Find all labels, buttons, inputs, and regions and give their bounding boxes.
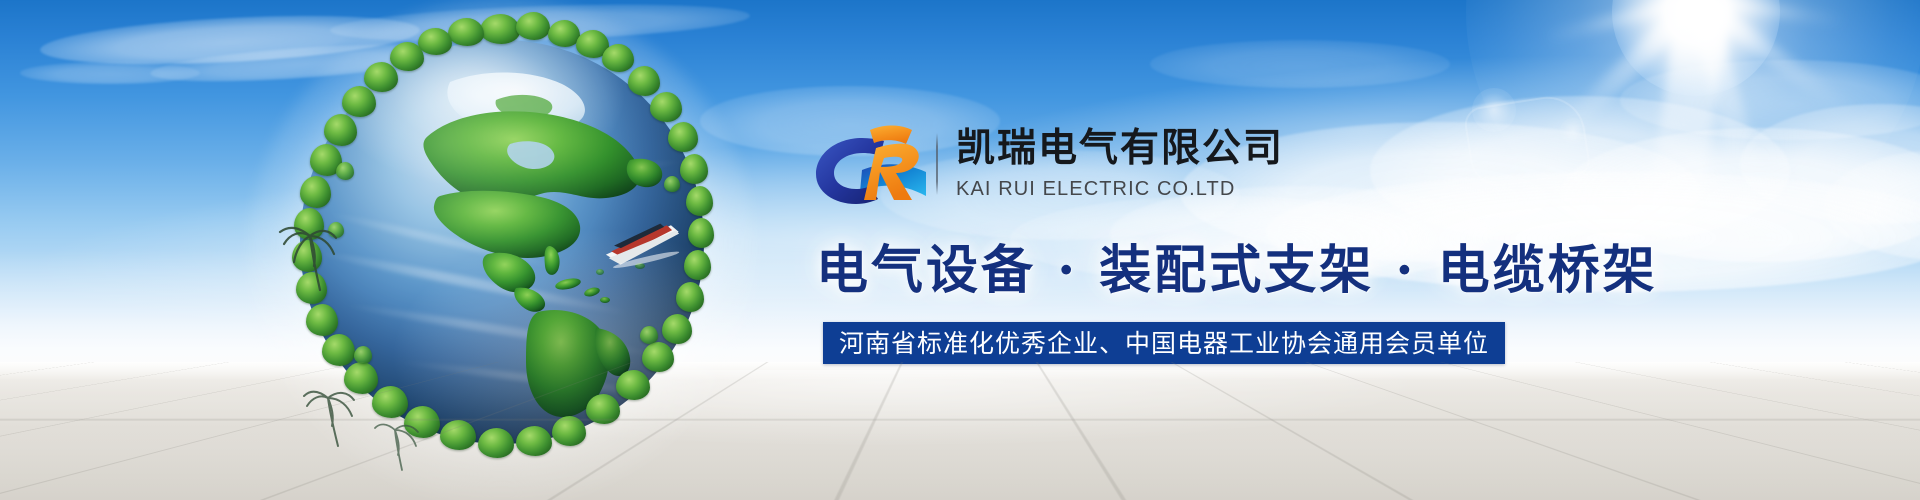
cloud-wisp [20,62,200,84]
palm-tree-icon [374,412,422,474]
brand-lockup: 凯瑞电气有限公司 KAI RUI ELECTRIC CO.LTD [806,118,1284,210]
palm-tree-icon [302,376,360,450]
cr-monogram-logo [806,122,928,206]
brand-divider [936,133,938,195]
green-earth-globe [282,24,722,476]
company-name-cn: 凯瑞电气有限公司 [956,127,1284,171]
company-name-en: KAI RUI ELECTRIC CO.LTD [956,177,1284,201]
credentials-ribbon-text: 河南省标准化优秀企业、中国电器工业协会通用会员单位 [839,331,1489,356]
banner-content: 凯瑞电气有限公司 KAI RUI ELECTRIC CO.LTD 电气设备 · … [806,0,1920,500]
headline-tagline: 电气设备 · 装配式支架 · 电缆桥架 [816,228,1658,303]
brand-names: 凯瑞电气有限公司 KAI RUI ELECTRIC CO.LTD [956,127,1284,201]
palm-tree-icon [276,210,340,296]
hero-banner: 凯瑞电气有限公司 KAI RUI ELECTRIC CO.LTD 电气设备 · … [0,0,1920,500]
credentials-ribbon: 河南省标准化优秀企业、中国电器工业协会通用会员单位 [823,322,1505,364]
